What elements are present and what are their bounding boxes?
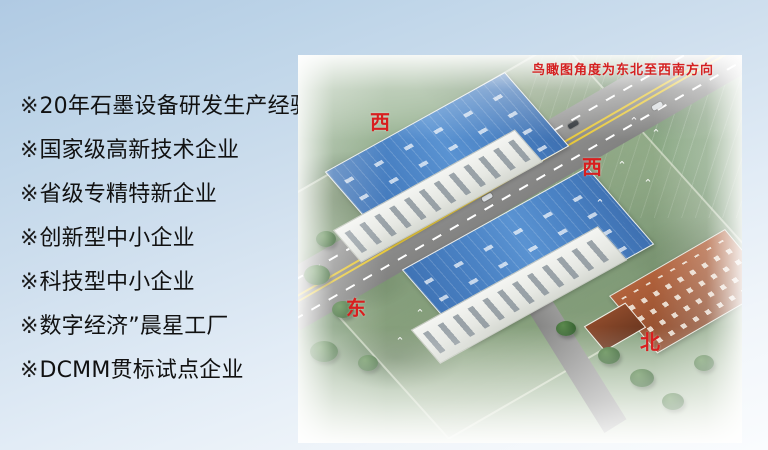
bullet-marker-icon: ※ (20, 184, 38, 206)
aerial-view-photo: ⌃ ⌃ ⌃ ⌃ ⌃ ⌃ ⌃ 鸟瞰图角度为东北至西南方向 西 西 东 北 (298, 55, 742, 443)
bullet-marker-icon: ※ (20, 140, 38, 162)
tree (358, 355, 378, 371)
bullet-text: DCMM贯标试点企业 (39, 360, 243, 382)
direction-mark-north: 北 (640, 332, 660, 352)
bullet-marker-icon: ※ (20, 360, 38, 382)
list-item: ※ 数字经济”晨星工厂 (20, 316, 292, 360)
bullet-marker-icon: ※ (20, 96, 38, 118)
bird-icon: ⌃ (594, 201, 606, 207)
bird-icon: ⌃ (414, 311, 426, 317)
bullet-text: 国家级高新技术企业 (39, 140, 239, 162)
list-item: ※ 20年石墨设备研发生产经验 (20, 96, 292, 140)
slide-canvas: ※ 20年石墨设备研发生产经验 ※ 国家级高新技术企业 ※ 省级专精特新企业 ※… (0, 0, 768, 450)
list-item: ※ 创新型中小企业 (20, 228, 292, 272)
bullet-text: 20年石墨设备研发生产经验 (39, 96, 312, 118)
bullet-text: 科技型中小企业 (39, 272, 194, 294)
bullet-text: 创新型中小企业 (39, 228, 194, 250)
direction-mark-west-right: 西 (582, 157, 602, 177)
bird-icon: ⌃ (642, 181, 654, 187)
bird-icon: ⌃ (628, 119, 640, 125)
tree (630, 369, 654, 387)
photo-caption: 鸟瞰图角度为东北至西南方向 (532, 59, 714, 78)
bullet-marker-icon: ※ (20, 272, 38, 294)
list-item: ※ 省级专精特新企业 (20, 184, 292, 228)
list-item: ※ 科技型中小企业 (20, 272, 292, 316)
tree (598, 347, 620, 364)
direction-mark-east-bottom: 东 (346, 298, 366, 318)
bird-icon: ⌃ (616, 163, 628, 169)
direction-mark-west-top: 西 (370, 112, 390, 132)
bullet-text: 省级专精特新企业 (39, 184, 217, 206)
tree (310, 341, 338, 362)
bullet-text: 数字经济”晨星工厂 (39, 316, 228, 338)
bullet-marker-icon: ※ (20, 316, 38, 338)
tree (316, 231, 336, 247)
bird-icon: ⌃ (650, 131, 662, 137)
feature-bullet-list: ※ 20年石墨设备研发生产经验 ※ 国家级高新技术企业 ※ 省级专精特新企业 ※… (20, 96, 292, 404)
tree (304, 265, 330, 285)
bullet-marker-icon: ※ (20, 228, 38, 250)
tree (556, 321, 576, 336)
bird-icon: ⌃ (394, 339, 406, 345)
tree (662, 393, 684, 410)
list-item: ※ DCMM贯标试点企业 (20, 360, 292, 404)
list-item: ※ 国家级高新技术企业 (20, 140, 292, 184)
tree (694, 355, 714, 371)
